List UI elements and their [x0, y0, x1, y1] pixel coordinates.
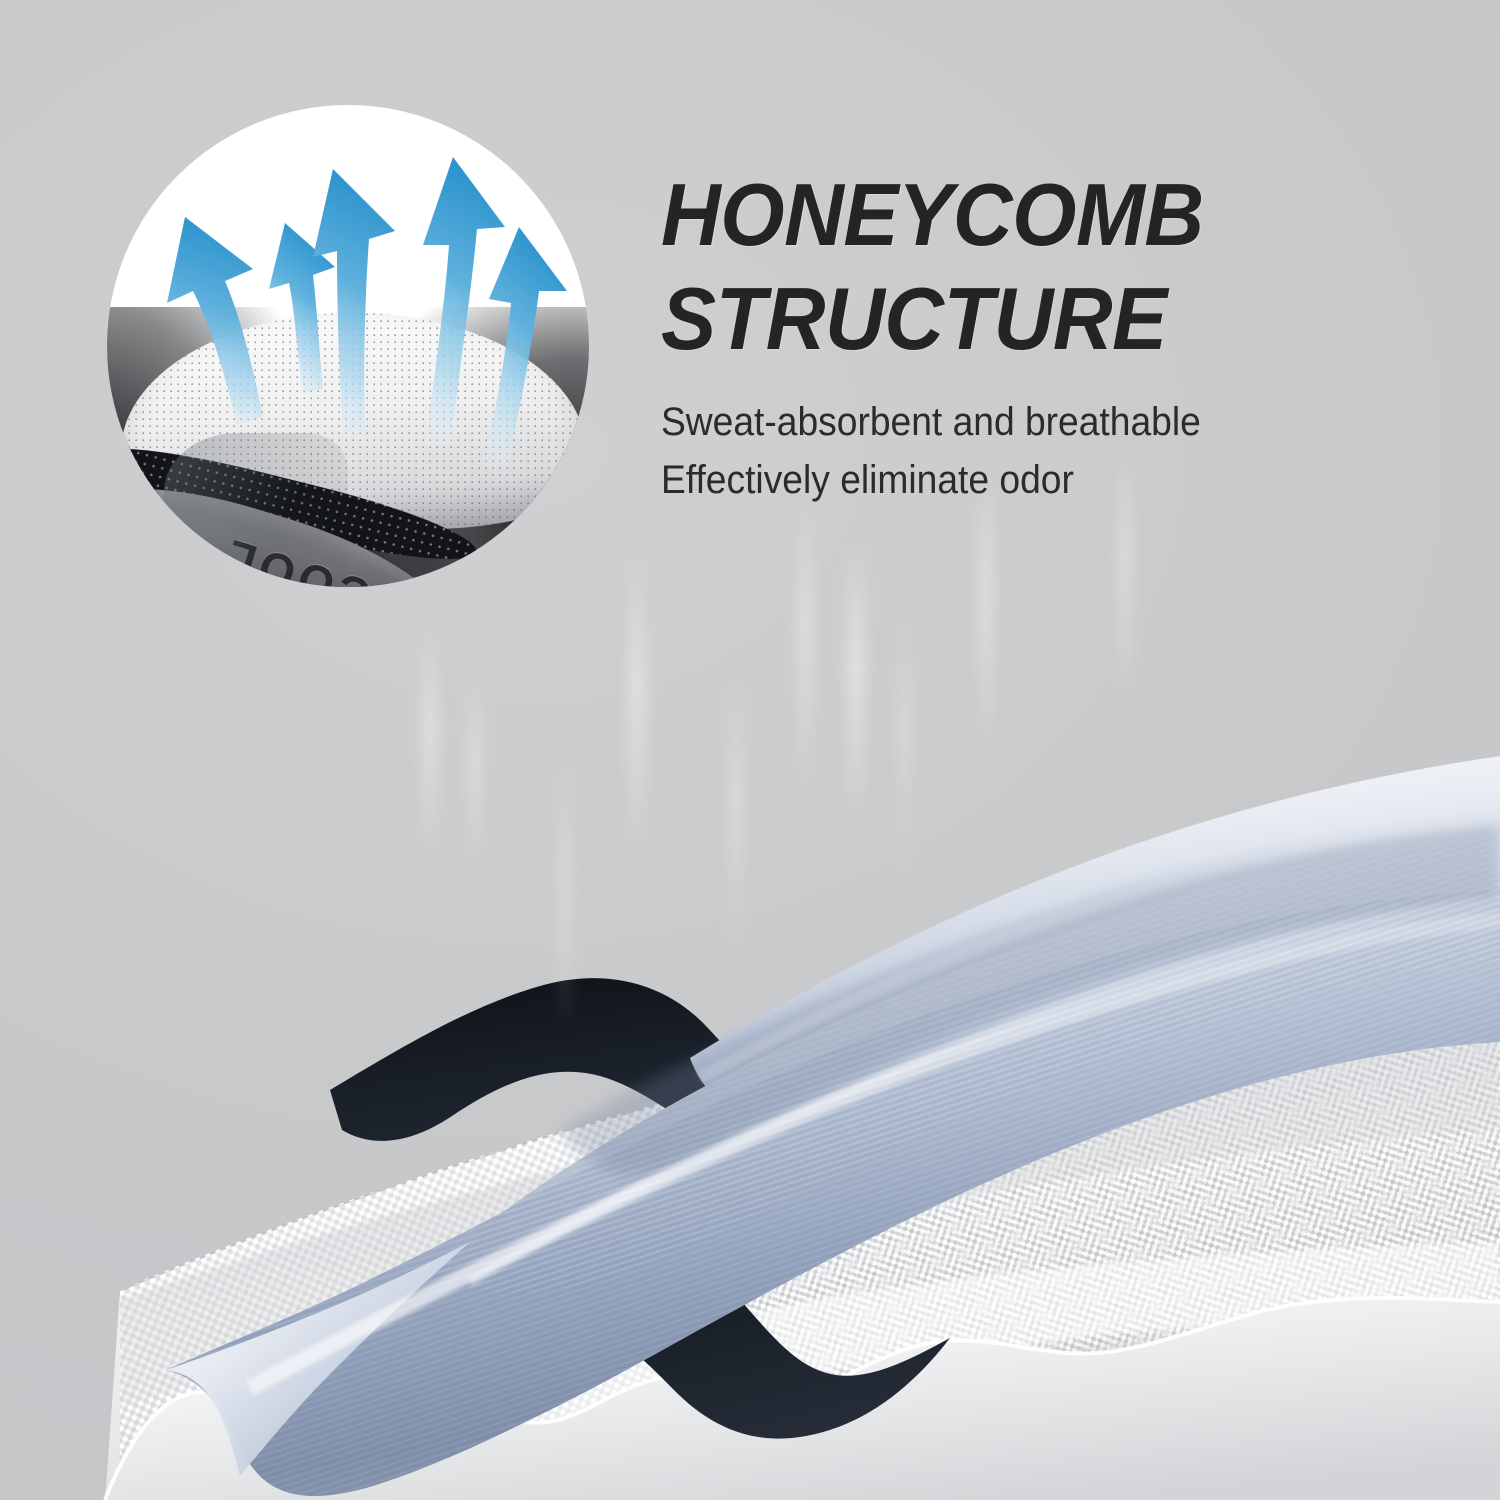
page-title-line-2: STRUCTURE [661, 267, 1404, 371]
fabric-svg [0, 430, 1500, 1500]
subtitle-line-2: Effectively eliminate odor [661, 451, 1396, 509]
subtitle-line-1: Sweat-absorbent and breathable [661, 393, 1396, 451]
product-photo: COOL [107, 307, 589, 587]
fabric-gloss [164, 433, 348, 587]
subtitle-block: Sweat-absorbent and breathable Effective… [661, 393, 1451, 509]
fabric-illustration [0, 430, 1500, 1500]
page-title-line-1: HONEYCOMB [661, 163, 1404, 267]
product-detail-inset: COOL [107, 105, 589, 587]
headline-block: HONEYCOMB STRUCTURE Sweat-absorbent and … [661, 163, 1451, 509]
product-feature-banner: COOL [0, 0, 1500, 1500]
